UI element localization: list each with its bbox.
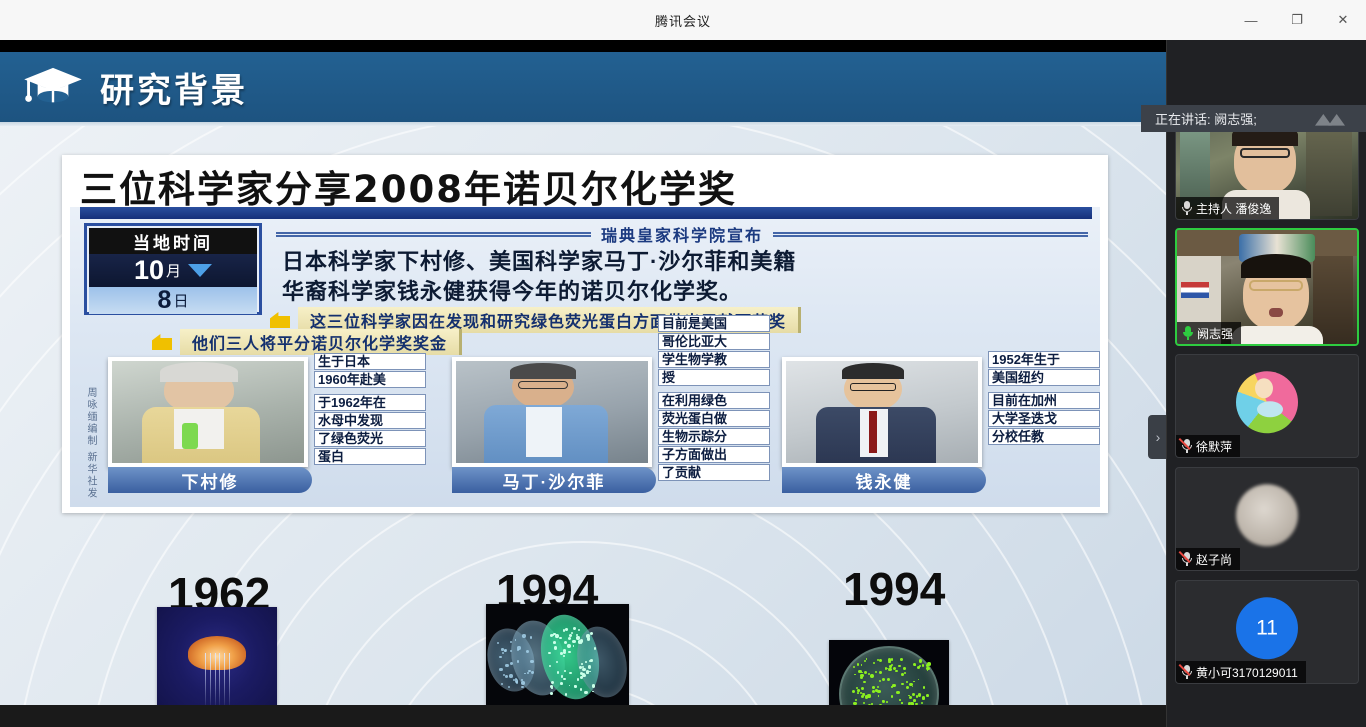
avatar — [1236, 484, 1298, 546]
news-screenshot: 三位科学家分享2008年诺贝尔化学奖 当地时间 10 月 8 日 — [62, 155, 1108, 513]
fact-item: 在利用绿色 — [658, 392, 770, 409]
scientist-facts-2: 目前是美国 哥伦比亚大 学生物学教 授 在利用绿色 荧光蛋白做 生物示踪分 子方… — [658, 315, 770, 487]
scientist-facts-3: 1952年生于 美国纽约 目前在加州 大学圣迭戈 分校任教 — [988, 351, 1100, 451]
fact-item: 美国纽约 — [988, 369, 1100, 386]
participant-name: 黄小可3170129011 — [1196, 664, 1298, 681]
participant-name-badge-4: 赵子尚 — [1176, 548, 1240, 570]
participant-name-badge-3: 徐默萍 — [1176, 435, 1240, 457]
participant-name: 主持人 潘俊逸 — [1196, 200, 1271, 217]
avatar: 11 — [1236, 597, 1298, 659]
fact-item: 分校任教 — [988, 428, 1100, 445]
presentation-slide: 研究背景 三位科学家分享2008年诺贝尔化学奖 当地时间 10 月 — [0, 52, 1166, 705]
participant-name: 徐默萍 — [1196, 438, 1232, 455]
fact-item: 水母中发现 — [314, 412, 426, 429]
triangle-icon — [188, 264, 212, 277]
news-announcer-line: 瑞典皇家科学院宣布 — [276, 223, 1088, 245]
microphone-muted-icon — [1181, 439, 1192, 453]
rule-left — [276, 232, 591, 237]
fact-item: 生于日本 — [314, 353, 426, 370]
maximize-button[interactable]: ❐ — [1274, 0, 1320, 40]
scientist-facts-1: 生于日本 1960年赴美 于1962年在 水母中发现 了绿色荧光 蛋白 — [314, 353, 426, 471]
fact-item: 目前在加州 — [988, 392, 1100, 409]
news-lead: 日本科学家下村修、美国科学家马丁·沙尔菲和美籍 华裔科学家钱永健获得今年的诺贝尔… — [282, 247, 1082, 307]
window-controls: — ❐ ✕ — [1228, 0, 1366, 40]
facts-group-1a: 生于日本 1960年赴美 — [314, 353, 426, 388]
speaking-banner: 正在讲话: 阙志强; — [1141, 105, 1366, 132]
participant-name-badge-2: 阙志强 — [1177, 322, 1241, 344]
news-date-box: 当地时间 10 月 8 日 — [84, 223, 262, 315]
fact-item: 1960年赴美 — [314, 371, 426, 388]
window-title: 腾讯会议 — [655, 11, 711, 30]
participant-tile-5[interactable]: 11 黄小可3170129011 — [1175, 580, 1359, 684]
date-day-unit: 日 — [173, 290, 188, 311]
fact-item: 荧光蛋白做 — [658, 410, 770, 427]
facts-group-3b: 目前在加州 大学圣迭戈 分校任教 — [988, 392, 1100, 445]
slide-header: 研究背景 — [0, 52, 1166, 122]
fact-item: 于1962年在 — [314, 394, 426, 411]
close-button[interactable]: ✕ — [1320, 0, 1366, 40]
fact-item: 生物示踪分 — [658, 428, 770, 445]
fact-item: 1952年生于 — [988, 351, 1100, 368]
news-watermark: 周咏缅编制 新华社发 — [82, 387, 96, 500]
participant-name: 阙志强 — [1197, 325, 1233, 342]
fluorescent-petri-dishes-photo — [486, 604, 629, 705]
news-announcer: 瑞典皇家科学院宣布 — [591, 222, 773, 246]
participant-name: 赵子尚 — [1196, 551, 1232, 568]
scientist-name-3: 钱永健 — [782, 467, 986, 493]
participants-sidebar: 正在讲话: 阙志强; 主持人 潘俊逸 — [1166, 40, 1366, 727]
news-body: 当地时间 10 月 8 日 瑞典皇家 — [70, 207, 1100, 507]
fact-item: 蛋白 — [314, 448, 426, 465]
microphone-icon — [1182, 326, 1193, 340]
news-headline: 三位科学家分享2008年诺贝尔化学奖 — [80, 159, 1090, 207]
facts-group-2a: 目前是美国 哥伦比亚大 学生物学教 授 — [658, 315, 770, 386]
participant-tile-3[interactable]: 徐默萍 — [1175, 354, 1359, 458]
participant-tile-2[interactable]: 阙志强 — [1175, 228, 1359, 346]
participant-name-badge-5: 黄小可3170129011 — [1176, 661, 1306, 683]
scientist-name-2: 马丁·沙尔菲 — [452, 467, 656, 493]
avatar — [1236, 371, 1298, 433]
fact-item: 哥伦比亚大 — [658, 333, 770, 350]
tencent-meeting-window: 腾讯会议 — ❐ ✕ — [0, 0, 1366, 727]
date-month-unit: 月 — [166, 260, 181, 281]
microphone-icon — [1181, 201, 1192, 215]
date-day-row: 8 日 — [89, 287, 257, 314]
facts-group-3a: 1952年生于 美国纽约 — [988, 351, 1100, 386]
scientist-panel-2: 马丁·沙尔菲 目前是美国 哥伦比亚大 学生物学教 授 在利用绿色 荧光蛋白做 — [452, 357, 768, 497]
participant-name-badge-1: 主持人 潘俊逸 — [1176, 197, 1279, 219]
scientist-photo-2 — [452, 357, 652, 467]
window-titlebar: 腾讯会议 — ❐ ✕ — [0, 0, 1366, 40]
fact-item: 学生物学教 — [658, 351, 770, 368]
scientist-panel-1: 下村修 生于日本 1960年赴美 于1962年在 水母中发现 了绿色荧光 蛋白 — [108, 357, 424, 497]
date-label: 当地时间 — [89, 228, 257, 254]
minimize-button[interactable]: — — [1228, 0, 1274, 40]
timeline-year-3: 1994 — [843, 562, 945, 616]
news-top-bar — [80, 207, 1092, 219]
fact-item: 了贡献 — [658, 464, 770, 481]
scientist-panel-3: 钱永健 1952年生于 美国纽约 目前在加州 大学圣迭戈 分校任教 — [782, 357, 1098, 497]
app-logo-icon — [1305, 110, 1355, 128]
rule-right — [773, 232, 1088, 237]
microphone-muted-icon — [1181, 552, 1192, 566]
speaking-banner-text: 正在讲话: 阙志强; — [1155, 109, 1257, 128]
chevron-right-icon[interactable]: › — [1148, 415, 1166, 459]
participant-tile-4[interactable]: 赵子尚 — [1175, 467, 1359, 571]
scientist-name-1: 下村修 — [108, 467, 312, 493]
fact-item: 大学圣迭戈 — [988, 410, 1100, 427]
scientist-photo-1 — [108, 357, 308, 467]
fact-item: 授 — [658, 369, 770, 386]
gfp-colonies-plate-photo — [829, 640, 949, 705]
news-lead-line-2: 华裔科学家钱永健获得今年的诺贝尔化学奖。 — [282, 277, 1082, 307]
fact-item: 了绿色荧光 — [314, 430, 426, 447]
fact-item: 子方面做出 — [658, 446, 770, 463]
news-callout-2: 他们三人将平分诺贝尔化学奖奖金 — [180, 329, 462, 355]
date-month: 10 — [134, 255, 164, 286]
facts-group-2b: 在利用绿色 荧光蛋白做 生物示踪分 子方面做出 了贡献 — [658, 392, 770, 481]
scientist-photo-3 — [782, 357, 982, 467]
facts-group-1b: 于1962年在 水母中发现 了绿色荧光 蛋白 — [314, 394, 426, 465]
jellyfish-photo — [157, 607, 277, 705]
fact-item: 目前是美国 — [658, 315, 770, 332]
slide-title: 研究背景 — [100, 63, 248, 112]
date-month-row: 10 月 — [89, 254, 257, 287]
graduation-cap-icon — [22, 64, 84, 110]
shared-screen-area[interactable]: 研究背景 三位科学家分享2008年诺贝尔化学奖 当地时间 10 月 — [0, 40, 1166, 705]
news-lead-line-1: 日本科学家下村修、美国科学家马丁·沙尔菲和美籍 — [282, 247, 1082, 277]
avatar-initials: 11 — [1256, 616, 1278, 640]
callout-arrow-icon-1 — [270, 312, 290, 328]
date-day: 8 — [158, 286, 172, 315]
microphone-muted-icon — [1181, 665, 1192, 679]
callout-arrow-icon-2 — [152, 334, 172, 350]
slide-header-divider — [0, 122, 1166, 126]
